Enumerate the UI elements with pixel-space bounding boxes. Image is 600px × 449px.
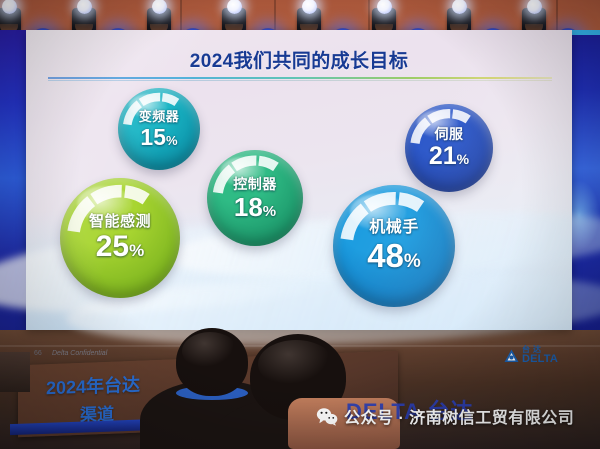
bubble-inverter: 变频器15% (118, 88, 200, 170)
bubble-label: 伺服 (435, 127, 464, 141)
bubble-value: 25 (96, 232, 129, 262)
bubble-percent-sign: % (129, 242, 144, 259)
wall-light-glow (570, 180, 600, 250)
bubble-percent-sign: % (404, 252, 421, 271)
delta-logo: 台达 DELTA (504, 346, 558, 365)
screenshot-root: 2024我们共同的成长目标 变频器15%控制器18%智能感测25%伺服21%机械… (0, 0, 600, 449)
ceiling-led-strip (570, 30, 600, 35)
bubble-value: 21 (429, 144, 457, 169)
bubble-value-group: 15% (140, 126, 177, 149)
wechat-icon (316, 407, 338, 426)
wechat-watermark: 公众号 · 济南树信工贸有限公司 (316, 404, 574, 428)
bubble-value: 18 (234, 194, 263, 220)
delta-logo-en: DELTA (522, 354, 558, 365)
bubble-value-group: 48% (367, 239, 421, 272)
bubble-value: 15 (140, 126, 166, 149)
bubble-text-group: 机械手48% (333, 185, 455, 307)
bubble-text-group: 控制器18% (207, 150, 303, 246)
watermark-text: 公众号 · 济南树信工贸有限公司 (344, 404, 574, 428)
bubble-percent-sign: % (457, 152, 469, 166)
bubble-percent-sign: % (263, 204, 276, 219)
title-divider-shadow (48, 80, 552, 81)
bubble-smart-sensing: 智能感测25% (60, 178, 180, 298)
projection-screen: 2024我们共同的成长目标 变频器15%控制器18%智能感测25%伺服21%机械… (26, 30, 572, 330)
bubble-value-group: 21% (429, 144, 469, 169)
bubble-percent-sign: % (166, 134, 178, 147)
right-wall-panel (570, 30, 600, 360)
left-wall-panel (0, 30, 28, 360)
bubble-text-group: 变频器15% (118, 88, 200, 170)
bubble-robot-arm: 机械手48% (333, 185, 455, 307)
bubble-label: 智能感测 (89, 214, 151, 229)
bubble-value-group: 25% (96, 232, 145, 262)
bubble-text-group: 智能感测25% (60, 178, 180, 298)
hair-highlight (258, 340, 334, 388)
title-divider (48, 77, 552, 79)
bubble-label: 机械手 (369, 220, 419, 236)
stage-banner-line1: 2024年台达 (46, 371, 140, 401)
delta-triangle-icon (504, 349, 519, 363)
bubble-servo: 伺服21% (405, 104, 493, 192)
slide-confidential-label: Delta Confidential (52, 350, 107, 357)
bubble-label: 控制器 (233, 177, 277, 191)
bubble-text-group: 伺服21% (405, 104, 493, 192)
slide-page-number: 66 (34, 350, 42, 357)
bubble-value-group: 18% (234, 194, 276, 220)
foreground-table (0, 352, 30, 392)
slide-title: 2024我们共同的成长目标 (26, 46, 572, 73)
bubble-controller: 控制器18% (207, 150, 303, 246)
bubble-label: 变频器 (139, 110, 180, 123)
bubble-value: 48 (367, 239, 404, 272)
